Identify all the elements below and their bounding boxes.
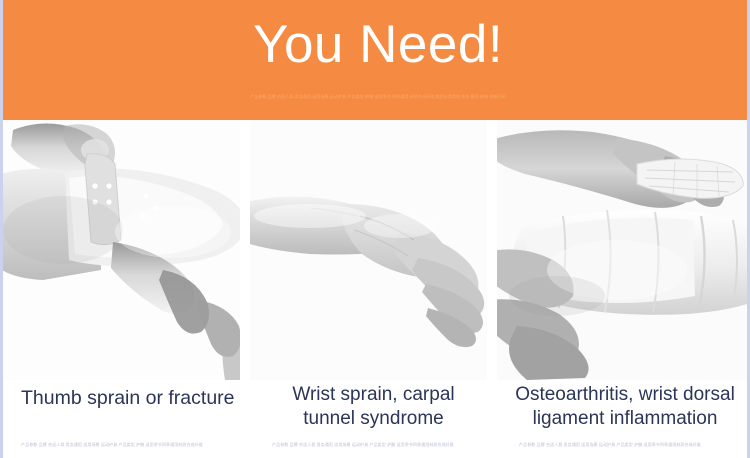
product-infographic: You Need! 产品参数 品牌 合适人群 男女通用 适用场景 运动护具 产品… xyxy=(0,0,750,458)
caption-microtext-3: 产品参数 品牌 合适人群 男女通用 适用场景 运动护具 产品类型 护腕 适用季节… xyxy=(519,442,719,455)
panel-bandage-wrap xyxy=(497,120,750,380)
caption-wrist-sprain: Wrist sprain, carpal tunnel syndrome xyxy=(250,383,497,431)
page-title: You Need! xyxy=(3,14,750,76)
caption-cell-osteoarthritis: Osteoarthritis, wrist dorsal ligament in… xyxy=(497,380,750,458)
panel-thumb-brace xyxy=(3,120,250,380)
caption-microtext-2: 产品参数 品牌 合适人群 男女通用 适用场景 运动护具 产品类型 护腕 适用季节… xyxy=(272,442,472,455)
banner-specs-microtext: 产品参数 品牌 合适人群 男女通用 适用场景 运动护具 产品类型 护腕 适用季节… xyxy=(198,94,558,107)
caption-cell-wrist: Wrist sprain, carpal tunnel syndrome 产品参… xyxy=(250,380,497,458)
caption-microtext-1: 产品参数 品牌 合适人群 男女通用 适用场景 运动护具 产品类型 护腕 适用季节… xyxy=(21,442,221,455)
panel-divider-1 xyxy=(240,120,250,380)
bandaged-wrist-photo xyxy=(497,120,750,380)
bare-hand-wrist-photo xyxy=(250,120,497,380)
caption-osteoarthritis: Osteoarthritis, wrist dorsal ligament in… xyxy=(497,383,750,431)
photo-panel-strip xyxy=(3,120,750,380)
panel-bare-wrist xyxy=(250,120,497,380)
caption-thumb-sprain: Thumb sprain or fracture xyxy=(21,383,250,413)
thumb-brace-photo xyxy=(3,120,250,380)
caption-cell-thumb: Thumb sprain or fracture 产品参数 品牌 合适人群 男女… xyxy=(3,380,250,458)
caption-row: Thumb sprain or fracture 产品参数 品牌 合适人群 男女… xyxy=(3,380,750,458)
header-banner: You Need! 产品参数 品牌 合适人群 男女通用 适用场景 运动护具 产品… xyxy=(3,0,750,120)
panel-divider-2 xyxy=(487,120,497,380)
